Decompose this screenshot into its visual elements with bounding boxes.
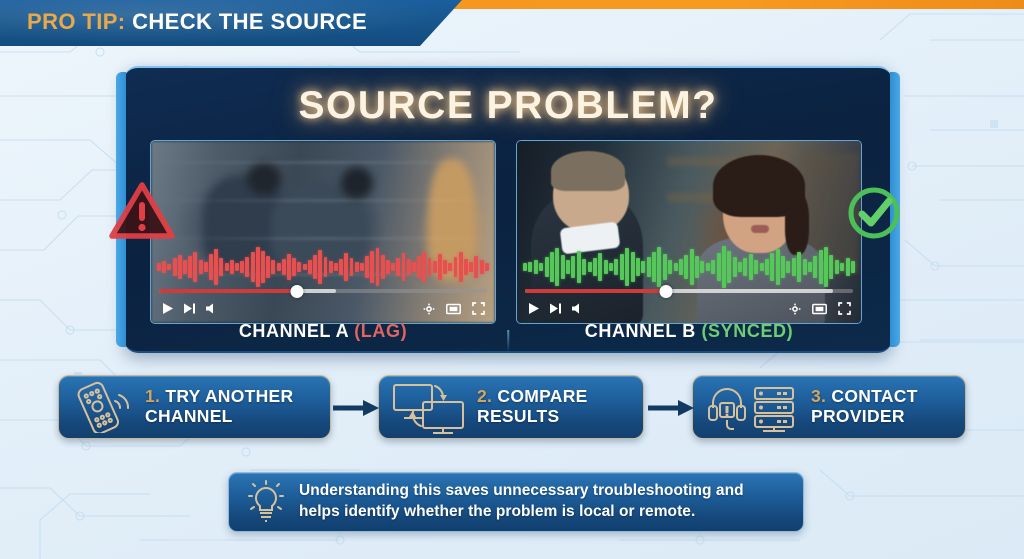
- channel-a-status: (LAG): [354, 321, 407, 341]
- gear-icon[interactable]: [423, 303, 435, 315]
- step-3-text: 3. CONTACT PROVIDER: [811, 387, 918, 426]
- channel-b-label: CHANNEL B (SYNCED): [516, 321, 862, 342]
- gear-icon[interactable]: [789, 303, 801, 315]
- headset-server-icon: [705, 382, 801, 432]
- channel-b-name: CHANNEL B: [585, 321, 696, 341]
- video-player-channel-a[interactable]: [150, 140, 496, 324]
- next-track-icon[interactable]: [549, 302, 562, 315]
- progress-knob[interactable]: [290, 285, 303, 298]
- step-2-line2: RESULTS: [477, 406, 559, 426]
- theater-mode-icon[interactable]: [446, 303, 461, 315]
- play-icon[interactable]: [161, 302, 174, 315]
- compare-monitors-icon: [391, 380, 467, 434]
- page-title: SOURCE PROBLEM?: [124, 84, 892, 128]
- header-title: PRO TIP: CHECK THE SOURCE: [27, 9, 367, 35]
- volume-icon[interactable]: [205, 302, 218, 315]
- tip-line1: Understanding this saves unnecessary tro…: [299, 482, 744, 499]
- warning-triangle-icon: [108, 180, 176, 242]
- step-1-text: 1. TRY ANOTHER CHANNEL: [145, 387, 293, 426]
- step-2-text: 2. COMPARE RESULTS: [477, 387, 588, 426]
- tip-line2: helps identify whether the problem is lo…: [299, 503, 695, 520]
- tip-bar: Understanding this saves unnecessary tro…: [228, 472, 804, 532]
- play-icon[interactable]: [527, 302, 540, 315]
- top-accent-strip: [445, 0, 1024, 9]
- step-2-line1: COMPARE: [497, 386, 587, 406]
- audio-waveform-channel-a: [157, 245, 489, 289]
- progress-track[interactable]: [159, 289, 487, 293]
- panel-divider: [507, 330, 509, 352]
- step-3-number: 3.: [811, 386, 826, 406]
- lightbulb-icon: [245, 480, 287, 524]
- step-2-number: 2.: [477, 386, 492, 406]
- main-comparison-panel: SOURCE PROBLEM?: [124, 66, 892, 353]
- step-1-line1: TRY ANOTHER: [165, 386, 293, 406]
- video-player-channel-b[interactable]: [516, 140, 862, 324]
- step-1-number: 1.: [145, 386, 160, 406]
- channel-b-status: (SYNCED): [701, 321, 793, 341]
- header-accent-label: PRO TIP:: [27, 9, 126, 34]
- volume-icon[interactable]: [571, 302, 584, 315]
- channel-a-name: CHANNEL A: [239, 321, 349, 341]
- step-3-line2: PROVIDER: [811, 406, 905, 426]
- check-circle-icon: [844, 183, 904, 243]
- theater-mode-icon[interactable]: [812, 303, 827, 315]
- step-button-contact-provider[interactable]: 3. CONTACT PROVIDER: [692, 375, 966, 439]
- progress-knob[interactable]: [660, 285, 673, 298]
- remote-control-icon: [71, 381, 135, 433]
- header-main-label: CHECK THE SOURCE: [132, 9, 367, 34]
- channel-a-label: CHANNEL A (LAG): [150, 321, 496, 342]
- arrow-step2-to-step3: [648, 398, 696, 418]
- progress-fill: [159, 289, 297, 293]
- audio-waveform-channel-b: [523, 245, 855, 289]
- fullscreen-icon[interactable]: [472, 302, 485, 315]
- fullscreen-icon[interactable]: [838, 302, 851, 315]
- tip-text: Understanding this saves unnecessary tro…: [299, 481, 744, 523]
- arrow-step1-to-step2: [333, 398, 381, 418]
- progress-track[interactable]: [525, 289, 853, 293]
- step-1-line2: CHANNEL: [145, 406, 233, 426]
- step-button-compare-results[interactable]: 2. COMPARE RESULTS: [378, 375, 644, 439]
- video-controls-channel-b[interactable]: [517, 285, 861, 323]
- progress-fill: [525, 289, 666, 293]
- step-button-try-another-channel[interactable]: 1. TRY ANOTHER CHANNEL: [58, 375, 331, 439]
- next-track-icon[interactable]: [183, 302, 196, 315]
- step-3-line1: CONTACT: [831, 386, 917, 406]
- video-controls-channel-a[interactable]: [151, 285, 495, 323]
